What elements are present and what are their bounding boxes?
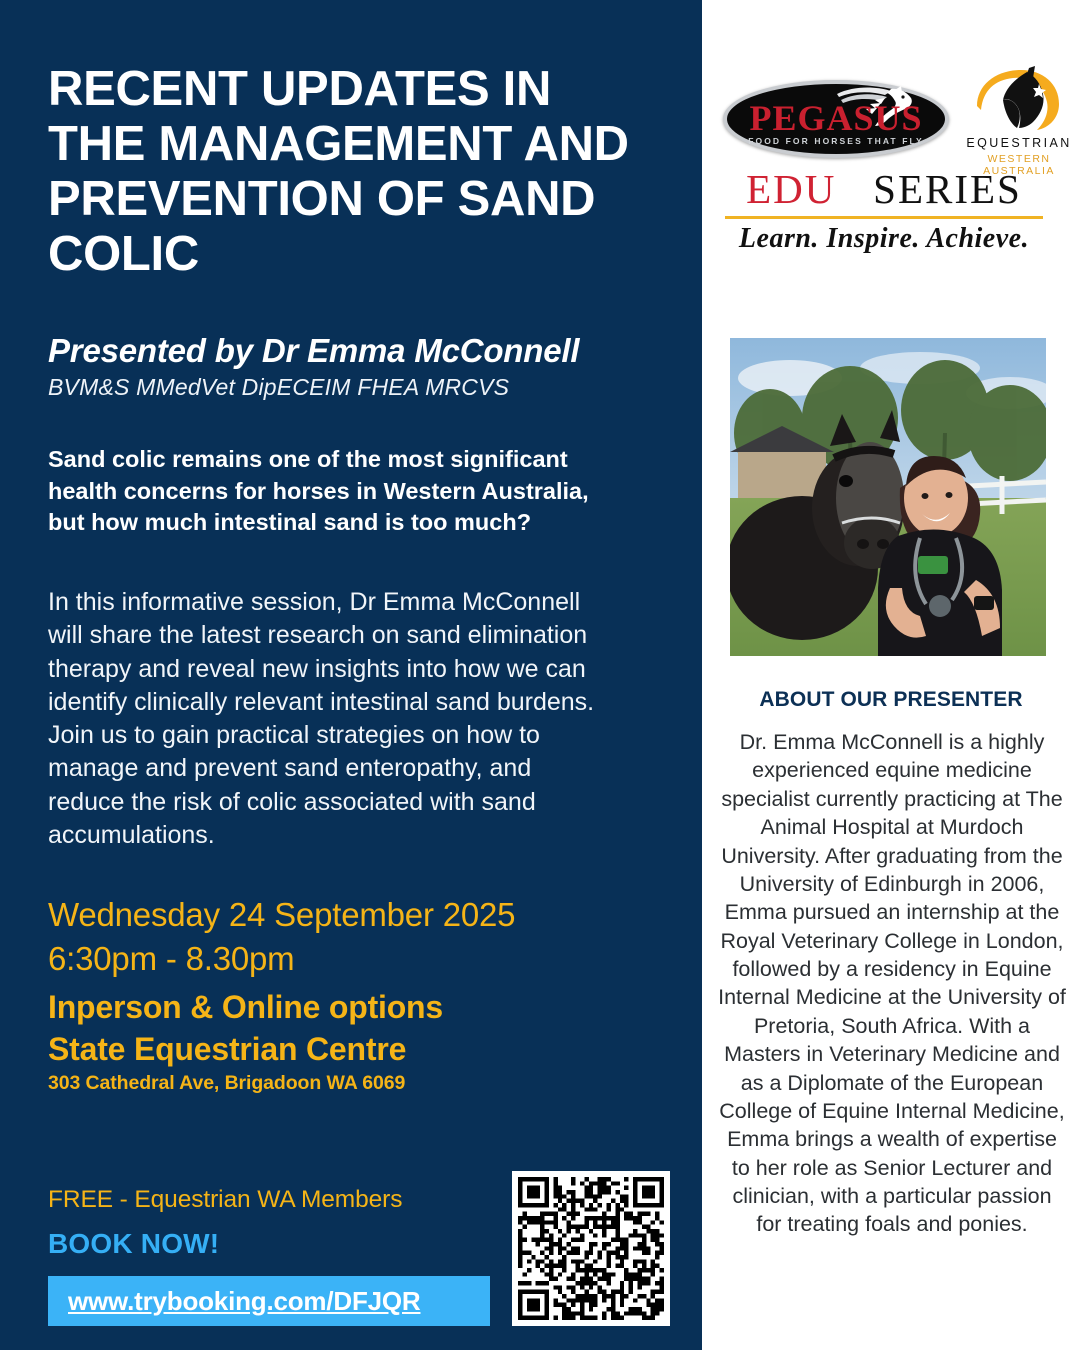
presenter-qualifications: BVM&S MMedVet DipECEIM FHEA MRCVS	[48, 374, 668, 401]
presenter-name: Presented by Dr Emma McConnell	[48, 332, 668, 370]
presenter-photo-illustration	[730, 338, 1046, 656]
pegasus-wordmark: PEGASUS	[717, 97, 955, 139]
edu-series-divider	[725, 216, 1043, 219]
attendance-options: Inperson & Online options	[48, 989, 443, 1026]
edu-series-logo: EDU SERIES Learn. Inspire. Achieve.	[712, 168, 1056, 255]
booking-url-button[interactable]: www.trybooking.com/DFJQR	[48, 1276, 490, 1326]
qr-code-canvas[interactable]	[518, 1177, 664, 1320]
edu-series-tagline: Learn. Inspire. Achieve.	[712, 223, 1056, 255]
event-date: Wednesday 24 September 2025	[48, 893, 668, 937]
pegasus-logo: PEGASUS FOOD FOR HORSES THAT FLY	[717, 70, 955, 168]
horse-head-icon	[969, 66, 1069, 134]
equestrian-wa-logo: EQUESTRIAN WESTERN AUSTRALIA	[963, 66, 1075, 174]
series-word: SERIES	[873, 166, 1022, 212]
poster-root: RECENT UPDATES IN THE MANAGEMENT AND PRE…	[0, 0, 1080, 1350]
about-presenter-heading: ABOUT OUR PRESENTER	[710, 688, 1072, 712]
venue-address: 303 Cathedral Ave, Brigadoon WA 6069	[48, 1072, 405, 1095]
lead-paragraph: Sand colic remains one of the most signi…	[48, 444, 618, 539]
price-row: FREE - Equestrian WA Members	[48, 1183, 402, 1216]
event-datetime: Wednesday 24 September 2025 6:30pm - 8.3…	[48, 893, 668, 980]
pegasus-tagline: FOOD FOR HORSES THAT FLY	[717, 136, 955, 146]
presenter-photo	[730, 338, 1046, 656]
page-title: RECENT UPDATES IN THE MANAGEMENT AND PRE…	[48, 62, 658, 282]
about-presenter-text: Dr. Emma McConnell is a highly experienc…	[718, 728, 1066, 1239]
book-now-label: BOOK NOW!	[48, 1228, 219, 1260]
edu-word: EDU	[746, 166, 836, 212]
venue-name: State Equestrian Centre	[48, 1031, 406, 1068]
session-description: In this informative session, Dr Emma McC…	[48, 586, 608, 852]
edu-series-wordmark: EDU SERIES	[712, 168, 1056, 211]
event-time: 6:30pm - 8.30pm	[48, 937, 668, 981]
equestrian-wa-line1: EQUESTRIAN	[963, 136, 1075, 150]
qr-code[interactable]	[512, 1171, 670, 1326]
